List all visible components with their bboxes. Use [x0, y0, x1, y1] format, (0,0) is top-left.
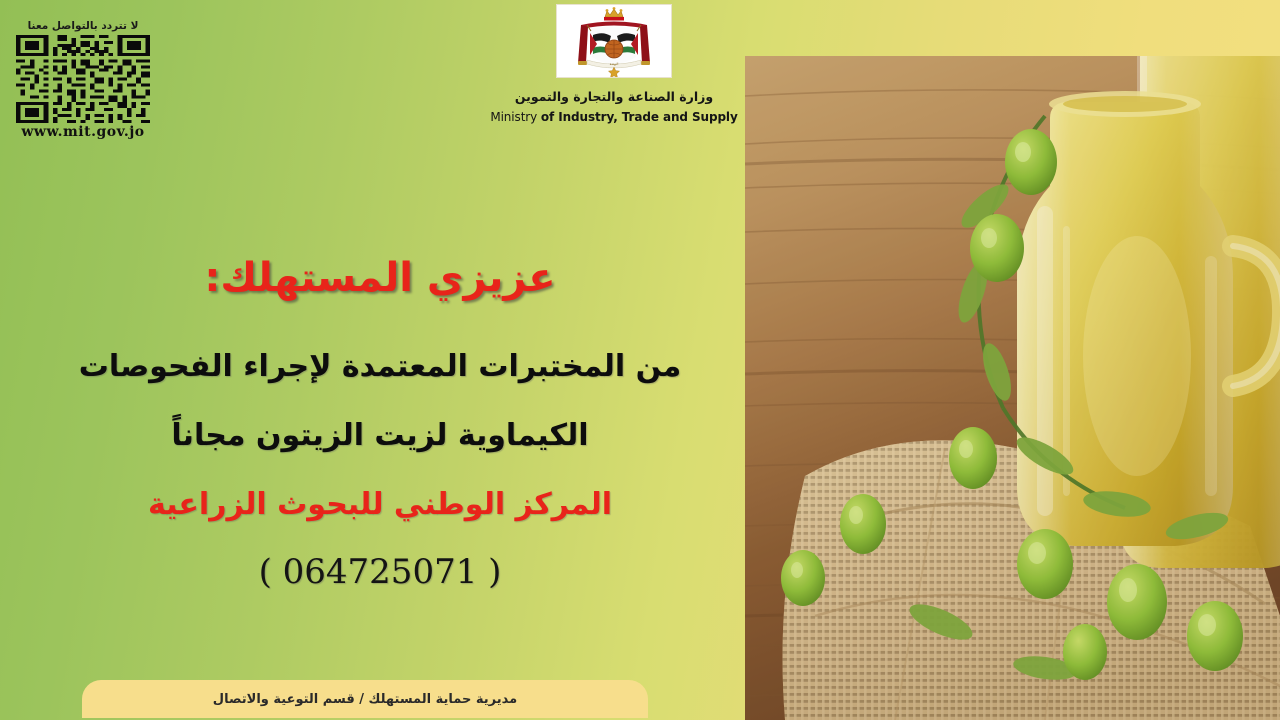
message-lab-name: المركز الوطني للبحوث الزراعية [40, 487, 720, 522]
jordan-coat-of-arms-icon: النهضة [556, 4, 672, 78]
qr-website-url[interactable]: www.mit.gov.jo [8, 124, 158, 140]
consumer-message-block: عزيزي المستهلك: من المختبرات المعتمدة لإ… [40, 255, 720, 592]
ministry-name-english: Ministry of Industry, Trade and Supply [476, 110, 752, 124]
svg-text:النهضة: النهضة [610, 62, 619, 66]
ministry-name-arabic: وزارة الصناعة والتجارة والتموين [476, 89, 752, 104]
ministry-name-en-prefix: Ministry [490, 110, 541, 124]
ministry-header: النهضة وزارة الصناعة والتجارة والتموين M… [476, 4, 752, 124]
message-phone-number: ( 064725071 ) [40, 552, 720, 592]
message-line-2: الكيماوية لزيت الزيتون مجاناً [40, 418, 720, 453]
qr-code-icon[interactable] [16, 35, 150, 123]
message-line-1: من المختبرات المعتمدة لإجراء الفحوصات [40, 349, 720, 384]
olive-oil-bottle-photo [745, 56, 1280, 720]
message-headline: عزيزي المستهلك: [40, 255, 720, 301]
ministry-name-en-suffix: of Industry, Trade and Supply [541, 110, 738, 124]
slide-canvas: لا تتردد بالتواصل معنا [0, 0, 1280, 720]
footer-banner: مديرية حماية المستهلك / قسم التوعية والا… [82, 680, 648, 718]
footer-department-text: مديرية حماية المستهلك / قسم التوعية والا… [213, 692, 517, 707]
qr-tagline: لا تتردد بالتواصل معنا [8, 20, 158, 32]
qr-contact-block: لا تتردد بالتواصل معنا [8, 20, 158, 140]
